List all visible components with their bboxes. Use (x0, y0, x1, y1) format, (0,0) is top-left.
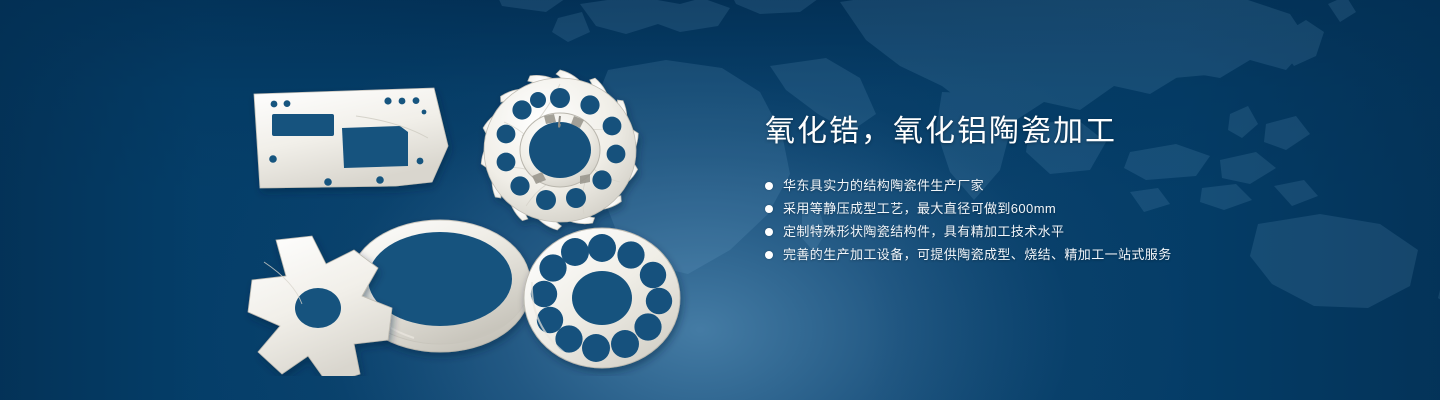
ceramic-vaned-impeller (477, 66, 644, 234)
bullet-dot-icon (765, 205, 773, 213)
product-photo-collage (236, 46, 706, 376)
feature-item: 采用等静压成型工艺，最大直径可做到600mm (765, 197, 1365, 220)
bullet-dot-icon (765, 182, 773, 190)
banner-copy: 氧化锆，氧化铝陶瓷加工 华东具实力的结构陶瓷件生产厂家 采用等静压成型工艺，最大… (765, 112, 1365, 266)
feature-item-label: 采用等静压成型工艺，最大直径可做到600mm (783, 197, 1056, 220)
feature-item-label: 华东具实力的结构陶瓷件生产厂家 (783, 174, 984, 197)
feature-item-label: 定制特殊形状陶瓷结构件，具有精加工技术水平 (783, 220, 1064, 243)
banner-headline: 氧化锆，氧化铝陶瓷加工 (765, 112, 1365, 152)
bullet-dot-icon (765, 228, 773, 236)
hero-banner: 氧化锆，氧化铝陶瓷加工 华东具实力的结构陶瓷件生产厂家 采用等静压成型工艺，最大… (0, 0, 1440, 400)
bullet-dot-icon (765, 251, 773, 259)
feature-item: 完善的生产加工设备，可提供陶瓷成型、烧结、精加工一站式服务 (765, 243, 1365, 266)
feature-item: 华东具实力的结构陶瓷件生产厂家 (765, 174, 1365, 197)
banner-feature-list: 华东具实力的结构陶瓷件生产厂家 采用等静压成型工艺，最大直径可做到600mm 定… (765, 174, 1365, 266)
feature-item: 定制特殊形状陶瓷结构件，具有精加工技术水平 (765, 220, 1365, 243)
feature-item-label: 完善的生产加工设备，可提供陶瓷成型、烧结、精加工一站式服务 (783, 243, 1172, 266)
ceramic-perforated-disc (524, 228, 680, 368)
ceramic-mounting-plate (254, 88, 448, 188)
